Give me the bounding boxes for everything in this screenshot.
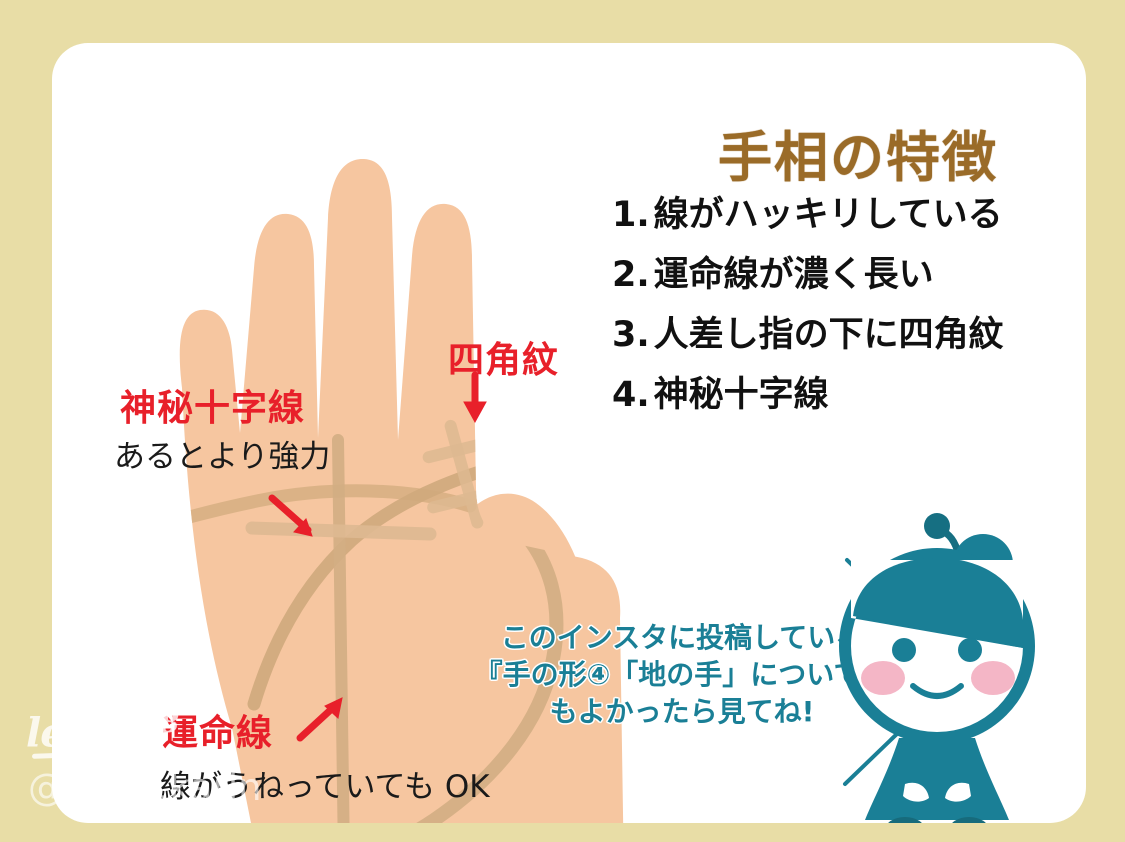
list-item-number: 3. [612, 315, 650, 355]
mascot-body [865, 738, 1009, 820]
mystic-cross-bar [252, 528, 430, 534]
annotation-square-mark-title: 四角紋 [448, 331, 559, 383]
page-title: 手相の特徴 [638, 113, 1078, 192]
watermark-handle: @karin.karin [28, 766, 262, 809]
list-item: 3.人差し指の下に四角紋 [612, 318, 1086, 353]
mascot-character [787, 498, 1086, 823]
annotation-mystic-cross-subtitle: あるとより強力 [114, 431, 330, 476]
list-item-label: 神秘十字線 [654, 375, 829, 415]
poster-canvas: 手相の特徴 1.線がハッキリしている 2.運命線が濃く長い 3.人差し指の下に四… [0, 0, 1125, 842]
feature-list: 1.線がハッキリしている 2.運命線が濃く長い 3.人差し指の下に四角紋 4.神… [612, 198, 1086, 438]
list-item: 2.運命線が濃く長い [612, 258, 1086, 293]
list-item-label: 線がハッキリしている [654, 195, 1003, 235]
content-card: 手相の特徴 1.線がハッキリしている 2.運命線が濃く長い 3.人差し指の下に四… [52, 43, 1086, 823]
list-item-number: 4. [612, 375, 650, 415]
mascot-hair-ball-icon [924, 513, 950, 539]
mascot-eye-left-icon [892, 638, 916, 662]
list-item-number: 2. [612, 255, 650, 295]
mascot-eye-right-icon [958, 638, 982, 662]
list-item-number: 1. [612, 195, 650, 235]
annotation-fate-line-title: 運命線 [162, 704, 273, 756]
watermark-logo-text: lemon [26, 709, 160, 756]
list-item: 1.線がハッキリしている [612, 198, 1086, 233]
mascot-cheek-left-icon [861, 661, 905, 695]
watermark-logo-suffix: 8 [160, 706, 178, 739]
watermark-logo: lemon8 [26, 706, 178, 756]
list-item-label: 運命線が濃く長い [654, 255, 934, 295]
list-item-label: 人差し指の下に四角紋 [654, 315, 1004, 355]
mascot-cheek-right-icon [971, 661, 1015, 695]
annotation-mystic-cross-title: 神秘十字線 [120, 379, 305, 431]
list-item: 4.神秘十字線 [612, 378, 1086, 413]
